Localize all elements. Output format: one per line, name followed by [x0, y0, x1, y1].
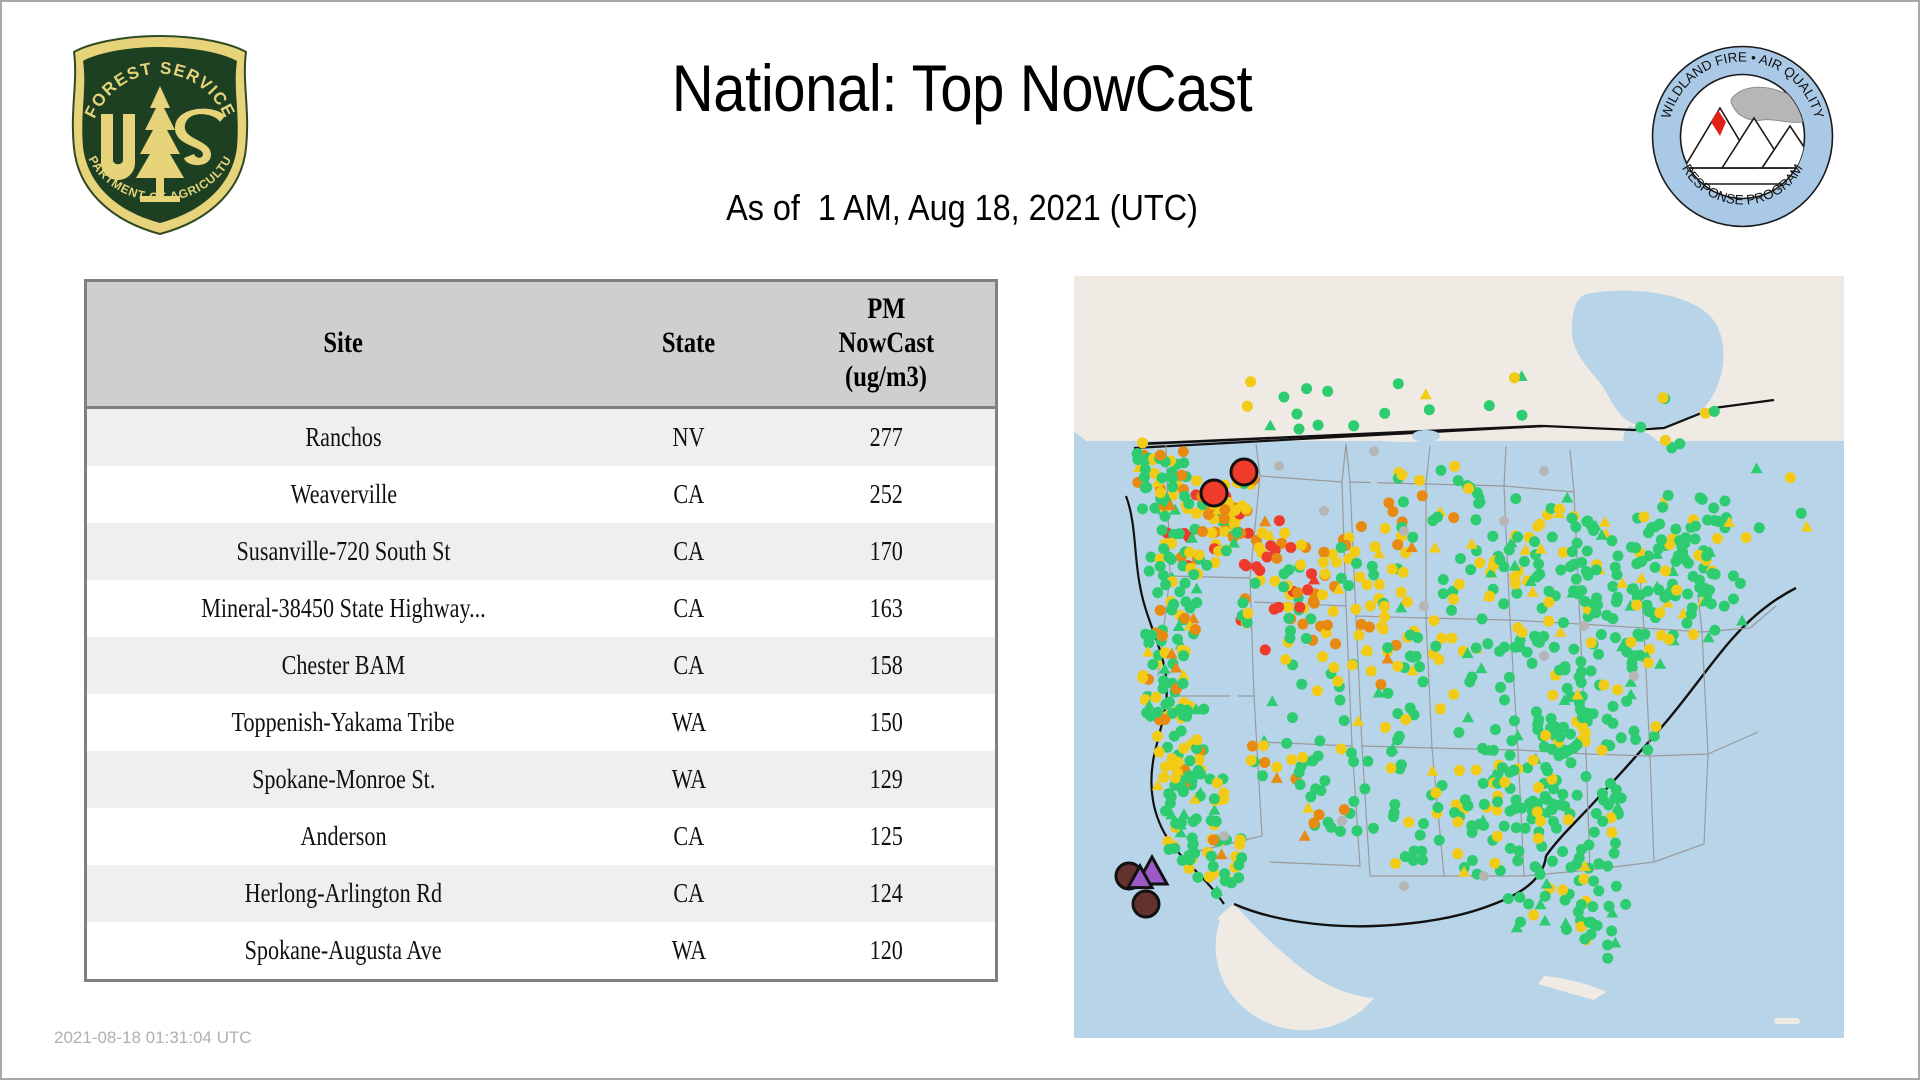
monitor-marker-temporary[interactable]	[1339, 715, 1350, 726]
monitor-marker-temporary[interactable]	[1348, 420, 1359, 431]
monitor-marker-temporary[interactable]	[1209, 793, 1220, 804]
monitor-marker-temporary[interactable]	[1649, 731, 1660, 742]
monitor-marker-temporary[interactable]	[1586, 666, 1597, 677]
monitor-marker-temporary[interactable]	[1707, 568, 1718, 579]
monitor-marker-temporary[interactable]	[1350, 604, 1361, 615]
monitor-marker-temporary[interactable]	[1548, 816, 1559, 827]
monitor-marker-temporary[interactable]	[1650, 562, 1661, 573]
monitor-marker-temporary[interactable]	[1635, 422, 1646, 433]
monitor-marker-temporary[interactable]	[1606, 827, 1617, 838]
monitor-marker-temporary[interactable]	[1221, 545, 1232, 556]
monitor-marker-temporary[interactable]	[1446, 605, 1457, 616]
monitor-marker-temporary[interactable]	[1557, 884, 1568, 895]
monitor-marker-temporary[interactable]	[1643, 606, 1654, 617]
monitor-marker-temporary[interactable]	[1470, 514, 1481, 525]
monitor-marker-temporary[interactable]	[1519, 556, 1530, 567]
monitor-marker-temporary[interactable]	[1278, 581, 1289, 592]
monitor-marker-temporary[interactable]	[1218, 788, 1229, 799]
monitor-marker-temporary[interactable]	[1497, 762, 1508, 773]
monitor-marker-temporary[interactable]	[1499, 695, 1510, 706]
monitor-marker-temporary[interactable]	[1219, 831, 1229, 841]
monitor-marker-temporary[interactable]	[1467, 855, 1478, 866]
monitor-marker-temporary[interactable]	[1245, 376, 1256, 387]
monitor-marker-temporary[interactable]	[1532, 719, 1543, 730]
monitor-marker-temporary[interactable]	[1719, 601, 1730, 612]
monitor-marker-temporary[interactable]	[1165, 798, 1176, 809]
monitor-marker-temporary[interactable]	[1179, 491, 1190, 502]
monitor-marker-temporary[interactable]	[1203, 509, 1214, 520]
monitor-marker-temporary[interactable]	[1184, 854, 1195, 865]
monitor-marker-temporary[interactable]	[1530, 861, 1541, 872]
table-row[interactable]: Chester BAMCA158	[87, 637, 995, 694]
monitor-marker-temporary[interactable]	[1419, 601, 1429, 611]
monitor-marker-temporary[interactable]	[1301, 383, 1312, 394]
monitor-marker-temporary[interactable]	[1157, 525, 1168, 536]
monitor-marker-temporary[interactable]	[1680, 554, 1691, 565]
monitor-marker-temporary[interactable]	[1489, 858, 1500, 869]
monitor-marker-temporary[interactable]	[1354, 572, 1365, 583]
monitor-marker-temporary[interactable]	[1392, 539, 1403, 550]
monitor-marker-temporary[interactable]	[1212, 778, 1223, 789]
monitor-marker-temporary[interactable]	[1415, 830, 1426, 841]
monitor-marker-temporary[interactable]	[1547, 690, 1558, 701]
monitor-marker-temporary[interactable]	[1348, 796, 1359, 807]
monitor-marker-temporary[interactable]	[1643, 527, 1654, 538]
monitor-marker-temporary[interactable]	[1702, 515, 1713, 526]
monitor-marker-temporary[interactable]	[1608, 701, 1619, 712]
monitor-marker-temporary[interactable]	[1586, 637, 1597, 648]
monitor-marker-temporary[interactable]	[1630, 542, 1641, 553]
monitor-marker-temporary[interactable]	[1593, 885, 1604, 896]
monitor-marker-temporary[interactable]	[1621, 696, 1632, 707]
monitor-marker-temporary[interactable]	[1257, 770, 1268, 781]
monitor-marker-temporary[interactable]	[1159, 714, 1170, 725]
monitor-marker-temporary[interactable]	[1339, 804, 1350, 815]
monitor-marker-temporary[interactable]	[1503, 893, 1514, 904]
monitor-marker-temporary[interactable]	[1478, 778, 1489, 789]
monitor-marker-temporary[interactable]	[1257, 527, 1268, 538]
monitor-marker-temporary[interactable]	[1674, 438, 1685, 449]
monitor-marker-temporary[interactable]	[1219, 513, 1230, 524]
monitor-marker-temporary[interactable]	[1568, 585, 1579, 596]
monitor-marker-temporary[interactable]	[1380, 722, 1391, 733]
monitor-marker-temporary[interactable]	[1565, 729, 1576, 740]
monitor-marker-temporary[interactable]	[1151, 692, 1162, 703]
table-row[interactable]: RanchosNV277	[87, 408, 995, 467]
monitor-marker-temporary[interactable]	[1504, 544, 1515, 555]
monitor-marker-temporary[interactable]	[1528, 755, 1539, 766]
monitor-marker-temporary[interactable]	[1294, 767, 1305, 778]
monitor-marker-temporary[interactable]	[1233, 860, 1244, 871]
monitor-marker-temporary[interactable]	[1233, 872, 1244, 883]
monitor-marker-temporary[interactable]	[1382, 642, 1393, 653]
monitor-marker-temporary[interactable]	[1499, 516, 1509, 526]
monitor-marker-temporary[interactable]	[1452, 848, 1463, 859]
monitor-marker-temporary[interactable]	[1555, 565, 1566, 576]
monitor-marker-temporary[interactable]	[1418, 818, 1429, 829]
monitor-marker-temporary[interactable]	[1178, 650, 1189, 661]
monitor-marker-temporary[interactable]	[1160, 761, 1171, 772]
monitor-marker-temporary[interactable]	[1137, 503, 1148, 514]
monitor-marker-temporary[interactable]	[1399, 881, 1409, 891]
monitor-marker-temporary[interactable]	[1436, 465, 1447, 476]
monitor-marker-temporary[interactable]	[1295, 779, 1306, 790]
monitor-marker-temporary[interactable]	[1607, 613, 1618, 624]
monitor-marker-temporary[interactable]	[1312, 685, 1323, 696]
monitor-marker-temporary[interactable]	[1208, 861, 1219, 872]
monitor-marker-temporary[interactable]	[1547, 532, 1558, 543]
monitor-marker-temporary[interactable]	[1654, 519, 1665, 530]
monitor-marker-temporary[interactable]	[1463, 483, 1474, 494]
monitor-marker-temporary[interactable]	[1728, 570, 1739, 581]
monitor-marker-temporary[interactable]	[1432, 802, 1443, 813]
monitor-marker-temporary[interactable]	[1575, 656, 1586, 667]
monitor-marker-temporary[interactable]	[1454, 579, 1465, 590]
monitor-marker-temporary[interactable]	[1319, 506, 1329, 516]
monitor-marker-temporary[interactable]	[1561, 924, 1572, 935]
monitor-marker-temporary[interactable]	[1576, 899, 1587, 910]
monitor-marker-temporary[interactable]	[1539, 651, 1549, 661]
monitor-marker-temporary[interactable]	[1528, 910, 1539, 921]
monitor-marker-temporary[interactable]	[1544, 586, 1555, 597]
monitor-marker-temporary[interactable]	[1283, 601, 1294, 612]
monitor-marker-temporary[interactable]	[1533, 782, 1544, 793]
monitor-marker-temporary[interactable]	[1374, 579, 1385, 590]
monitor-marker-temporary[interactable]	[1577, 712, 1588, 723]
monitor-marker-temporary[interactable]	[1566, 757, 1577, 768]
monitor-marker-temporary[interactable]	[1296, 679, 1307, 690]
monitor-marker-temporary[interactable]	[1676, 541, 1687, 552]
monitor-marker-temporary[interactable]	[1328, 606, 1339, 617]
monitor-marker-temporary[interactable]	[1479, 799, 1490, 810]
monitor-marker-temporary[interactable]	[1302, 584, 1313, 595]
monitor-marker-temporary[interactable]	[1192, 872, 1203, 883]
monitor-marker-temporary[interactable]	[1259, 757, 1270, 768]
monitor-marker-temporary[interactable]	[1292, 409, 1303, 420]
table-row[interactable]: Herlong-Arlington RdCA124	[87, 865, 995, 922]
monitor-marker-temporary[interactable]	[1369, 446, 1379, 456]
monitor-marker-temporary[interactable]	[1453, 817, 1464, 828]
monitor-marker-temporary[interactable]	[1690, 534, 1701, 545]
monitor-marker-temporary[interactable]	[1191, 508, 1202, 519]
monitor-marker-temporary[interactable]	[1602, 714, 1613, 725]
monitor-marker-temporary[interactable]	[1610, 838, 1621, 849]
monitor-marker-temporary[interactable]	[1606, 535, 1617, 546]
monitor-marker-temporary[interactable]	[1495, 682, 1506, 693]
monitor-marker-temporary[interactable]	[1664, 634, 1675, 645]
monitor-marker-temporary[interactable]	[1511, 795, 1522, 806]
monitor-marker-temporary[interactable]	[1246, 755, 1257, 766]
monitor-marker-temporary[interactable]	[1557, 846, 1568, 857]
monitor-marker-temporary[interactable]	[1231, 459, 1257, 485]
monitor-marker-temporary[interactable]	[1409, 846, 1420, 857]
monitor-marker-temporary[interactable]	[1582, 546, 1593, 557]
monitor-marker-temporary[interactable]	[1613, 551, 1624, 562]
monitor-marker-temporary[interactable]	[1301, 633, 1312, 644]
monitor-marker-temporary[interactable]	[1180, 578, 1191, 589]
monitor-marker-temporary[interactable]	[1188, 816, 1199, 827]
monitor-marker-temporary[interactable]	[1326, 822, 1337, 833]
monitor-marker-temporary[interactable]	[1492, 796, 1503, 807]
monitor-marker-temporary[interactable]	[1455, 553, 1466, 564]
monitor-marker-temporary[interactable]	[1154, 747, 1165, 758]
monitor-marker-temporary[interactable]	[1549, 642, 1560, 653]
monitor-marker-temporary[interactable]	[1297, 752, 1308, 763]
monitor-marker-temporary[interactable]	[1560, 895, 1571, 906]
monitor-marker-temporary[interactable]	[1572, 790, 1583, 801]
monitor-marker-temporary[interactable]	[1509, 372, 1520, 383]
monitor-marker-temporary[interactable]	[1543, 597, 1554, 608]
monitor-marker-temporary[interactable]	[1318, 557, 1329, 568]
monitor-marker-temporary[interactable]	[1380, 523, 1391, 534]
monitor-marker-temporary[interactable]	[1194, 754, 1205, 765]
national-aqi-map[interactable]: Air Quality Index HazardousVery Unhealth…	[1074, 276, 1844, 1038]
monitor-marker-temporary[interactable]	[1688, 629, 1699, 640]
monitor-marker-temporary[interactable]	[1354, 630, 1365, 641]
monitor-marker-temporary[interactable]	[1314, 809, 1325, 820]
monitor-marker-temporary[interactable]	[1178, 678, 1189, 689]
monitor-marker-temporary[interactable]	[1308, 596, 1319, 607]
monitor-marker-temporary[interactable]	[1719, 496, 1730, 507]
monitor-marker-temporary[interactable]	[1635, 589, 1646, 600]
monitor-marker-temporary[interactable]	[1274, 515, 1285, 526]
monitor-marker-temporary[interactable]	[1471, 643, 1482, 654]
monitor-marker-temporary[interactable]	[1366, 666, 1377, 677]
monitor-marker-temporary[interactable]	[1509, 715, 1520, 726]
monitor-marker-temporary[interactable]	[1379, 601, 1390, 612]
monitor-marker-temporary[interactable]	[1201, 480, 1227, 506]
monitor-marker-temporary[interactable]	[1690, 521, 1701, 532]
monitor-marker-temporary[interactable]	[1393, 378, 1404, 389]
monitor-marker-temporary[interactable]	[1208, 835, 1219, 846]
monitor-marker-temporary[interactable]	[1164, 697, 1175, 708]
monitor-marker-temporary[interactable]	[1191, 475, 1202, 486]
monitor-marker-temporary[interactable]	[1397, 469, 1408, 480]
monitor-marker-temporary[interactable]	[1332, 676, 1343, 687]
monitor-marker-temporary[interactable]	[1651, 721, 1662, 732]
monitor-marker-temporary[interactable]	[1188, 569, 1199, 580]
monitor-marker-temporary[interactable]	[1639, 511, 1650, 522]
monitor-marker-temporary[interactable]	[1522, 647, 1533, 658]
monitor-marker-temporary[interactable]	[1532, 521, 1543, 532]
monitor-marker-temporary[interactable]	[1660, 435, 1671, 446]
monitor-marker-temporary[interactable]	[1474, 557, 1485, 568]
monitor-marker-temporary[interactable]	[1347, 660, 1358, 671]
monitor-marker-temporary[interactable]	[1254, 565, 1265, 576]
monitor-marker-temporary[interactable]	[1368, 823, 1379, 834]
monitor-marker-temporary[interactable]	[1438, 574, 1449, 585]
monitor-marker-temporary[interactable]	[1540, 891, 1551, 902]
monitor-marker-temporary[interactable]	[1454, 765, 1465, 776]
monitor-marker-temporary[interactable]	[1271, 762, 1282, 773]
monitor-marker-temporary[interactable]	[1158, 772, 1169, 783]
monitor-marker-temporary[interactable]	[1382, 688, 1393, 699]
monitor-marker-temporary[interactable]	[1588, 708, 1599, 719]
monitor-marker-temporary[interactable]	[1511, 822, 1522, 833]
monitor-marker-temporary[interactable]	[1219, 868, 1230, 879]
monitor-marker-temporary[interactable]	[1279, 528, 1290, 539]
monitor-marker-temporary[interactable]	[1313, 420, 1324, 431]
monitor-marker-temporary[interactable]	[1471, 765, 1482, 776]
monitor-marker-temporary[interactable]	[1663, 490, 1674, 501]
monitor-marker-temporary[interactable]	[1362, 756, 1373, 767]
monitor-marker-temporary[interactable]	[1728, 594, 1739, 605]
monitor-marker-temporary[interactable]	[1602, 953, 1613, 964]
monitor-marker-temporary[interactable]	[1279, 568, 1290, 579]
monitor-marker-temporary[interactable]	[1571, 574, 1582, 585]
monitor-marker-temporary[interactable]	[1402, 596, 1413, 607]
monitor-marker-temporary[interactable]	[1612, 684, 1623, 695]
monitor-marker-temporary[interactable]	[1287, 712, 1298, 723]
monitor-marker-temporary[interactable]	[1295, 560, 1306, 571]
monitor-marker-temporary[interactable]	[1533, 559, 1544, 570]
monitor-marker-temporary[interactable]	[1448, 512, 1459, 523]
monitor-marker-temporary[interactable]	[1140, 464, 1151, 475]
monitor-marker-temporary[interactable]	[1699, 583, 1710, 594]
monitor-marker-temporary[interactable]	[1271, 553, 1282, 564]
monitor-marker-temporary[interactable]	[1388, 811, 1399, 822]
monitor-marker-temporary[interactable]	[1498, 598, 1509, 609]
monitor-marker-temporary[interactable]	[1598, 795, 1609, 806]
monitor-marker-temporary[interactable]	[1317, 651, 1328, 662]
monitor-marker-temporary[interactable]	[1547, 856, 1558, 867]
monitor-marker-temporary[interactable]	[1659, 592, 1670, 603]
monitor-marker-temporary[interactable]	[1557, 789, 1568, 800]
monitor-marker-temporary[interactable]	[1510, 493, 1521, 504]
monitor-marker-temporary[interactable]	[1593, 649, 1604, 660]
monitor-marker-temporary[interactable]	[1399, 526, 1409, 536]
monitor-marker-temporary[interactable]	[1250, 578, 1261, 589]
monitor-marker-temporary[interactable]	[1539, 466, 1549, 476]
monitor-marker-temporary[interactable]	[1754, 522, 1765, 533]
monitor-marker-temporary[interactable]	[1446, 633, 1457, 644]
monitor-marker-temporary[interactable]	[1597, 745, 1608, 756]
monitor-marker-temporary[interactable]	[1152, 731, 1163, 742]
monitor-marker-temporary[interactable]	[1602, 861, 1613, 872]
monitor-marker-temporary[interactable]	[1198, 704, 1209, 715]
monitor-marker-temporary[interactable]	[1187, 774, 1198, 785]
monitor-marker-temporary[interactable]	[1160, 579, 1171, 590]
monitor-marker-temporary[interactable]	[1392, 734, 1403, 745]
monitor-marker-temporary[interactable]	[1378, 624, 1389, 635]
monitor-marker-temporary[interactable]	[1385, 763, 1396, 774]
monitor-marker-temporary[interactable]	[1629, 726, 1640, 737]
monitor-marker-temporary[interactable]	[1242, 401, 1253, 412]
monitor-marker-temporary[interactable]	[1235, 835, 1246, 846]
monitor-marker-temporary[interactable]	[1174, 528, 1185, 539]
monitor-marker-temporary[interactable]	[1176, 817, 1187, 828]
monitor-marker-temporary[interactable]	[1554, 665, 1565, 676]
monitor-marker-temporary[interactable]	[1512, 532, 1523, 543]
monitor-marker-temporary[interactable]	[1283, 613, 1294, 624]
monitor-marker-temporary[interactable]	[1542, 765, 1553, 776]
monitor-marker-temporary[interactable]	[1592, 920, 1603, 931]
monitor-marker-temporary[interactable]	[1335, 695, 1346, 706]
monitor-marker-temporary[interactable]	[1187, 833, 1198, 844]
monitor-marker-temporary[interactable]	[1178, 446, 1189, 457]
monitor-marker-temporary[interactable]	[1686, 609, 1697, 620]
monitor-marker-temporary[interactable]	[1434, 835, 1445, 846]
monitor-marker-temporary[interactable]	[1609, 848, 1620, 859]
monitor-marker-temporary[interactable]	[1197, 526, 1208, 537]
monitor-marker-temporary[interactable]	[1671, 585, 1682, 596]
monitor-marker-temporary[interactable]	[1591, 564, 1602, 575]
monitor-marker-temporary[interactable]	[1658, 392, 1669, 403]
monitor-marker-temporary[interactable]	[1654, 607, 1665, 618]
monitor-marker-temporary[interactable]	[1438, 588, 1449, 599]
monitor-marker-temporary[interactable]	[1572, 538, 1583, 549]
monitor-marker-temporary[interactable]	[1566, 513, 1577, 524]
monitor-marker-temporary[interactable]	[1510, 642, 1521, 653]
monitor-marker-temporary[interactable]	[1701, 550, 1712, 561]
monitor-marker-temporary[interactable]	[1631, 600, 1642, 611]
monitor-marker-temporary[interactable]	[1192, 734, 1203, 745]
monitor-marker-temporary[interactable]	[1307, 755, 1318, 766]
column-header-pm-nowcast[interactable]: PM NowCast (ug/m3)	[777, 282, 995, 408]
monitor-marker-temporary[interactable]	[1274, 461, 1284, 471]
monitor-marker-temporary[interactable]	[1539, 741, 1550, 752]
monitor-marker-temporary[interactable]	[1190, 624, 1201, 635]
monitor-marker-temporary[interactable]	[1607, 581, 1618, 592]
monitor-marker-temporary[interactable]	[1285, 625, 1296, 636]
monitor-marker-temporary[interactable]	[1375, 679, 1386, 690]
monitor-marker-temporary[interactable]	[1576, 557, 1587, 568]
monitor-marker-temporary[interactable]	[1597, 816, 1608, 827]
monitor-marker-temporary[interactable]	[1392, 661, 1403, 672]
monitor-marker-temporary[interactable]	[1432, 512, 1443, 523]
monitor-marker-temporary[interactable]	[1278, 392, 1289, 403]
monitor-marker-temporary[interactable]	[1563, 814, 1574, 825]
monitor-marker-temporary[interactable]	[1362, 646, 1373, 657]
monitor-marker-temporary[interactable]	[1535, 816, 1546, 827]
monitor-marker-temporary[interactable]	[1336, 744, 1347, 755]
monitor-marker-temporary[interactable]	[1158, 683, 1169, 694]
monitor-marker-temporary[interactable]	[1499, 821, 1510, 832]
monitor-marker-temporary[interactable]	[1487, 531, 1498, 542]
monitor-marker-temporary[interactable]	[1365, 600, 1376, 611]
monitor-marker-temporary[interactable]	[1796, 508, 1807, 519]
monitor-marker-temporary[interactable]	[1463, 800, 1474, 811]
table-row[interactable]: WeavervilleCA252	[87, 466, 995, 523]
monitor-marker-temporary[interactable]	[1317, 589, 1328, 600]
monitor-marker-temporary[interactable]	[1478, 820, 1489, 831]
monitor-marker-temporary[interactable]	[1181, 596, 1192, 607]
monitor-marker-temporary[interactable]	[1609, 793, 1620, 804]
monitor-marker-temporary[interactable]	[1482, 638, 1493, 649]
monitor-marker-temporary[interactable]	[1346, 747, 1357, 758]
monitor-marker-temporary[interactable]	[1337, 816, 1347, 826]
monitor-marker-temporary[interactable]	[1453, 727, 1464, 738]
monitor-marker-temporary[interactable]	[1146, 630, 1157, 641]
monitor-marker-temporary[interactable]	[1407, 532, 1418, 543]
monitor-marker-temporary[interactable]	[1588, 876, 1599, 887]
monitor-marker-temporary[interactable]	[1387, 506, 1398, 517]
monitor-marker-temporary[interactable]	[1579, 621, 1589, 631]
monitor-marker-temporary[interactable]	[1529, 536, 1540, 547]
monitor-marker-temporary[interactable]	[1477, 613, 1488, 624]
monitor-marker-temporary[interactable]	[1473, 498, 1484, 509]
monitor-marker-temporary[interactable]	[1285, 542, 1296, 553]
monitor-marker-temporary[interactable]	[1466, 672, 1477, 683]
monitor-marker-temporary[interactable]	[1657, 502, 1668, 513]
table-row[interactable]: Toppenish-Yakama TribeWA150	[87, 694, 995, 751]
monitor-marker-temporary[interactable]	[1237, 597, 1248, 608]
monitor-marker-temporary[interactable]	[1368, 569, 1379, 580]
monitor-marker-temporary[interactable]	[1616, 732, 1627, 743]
monitor-marker-temporary[interactable]	[1579, 874, 1590, 885]
monitor-marker-temporary[interactable]	[1258, 740, 1269, 751]
monitor-marker-temporary[interactable]	[1403, 817, 1414, 828]
